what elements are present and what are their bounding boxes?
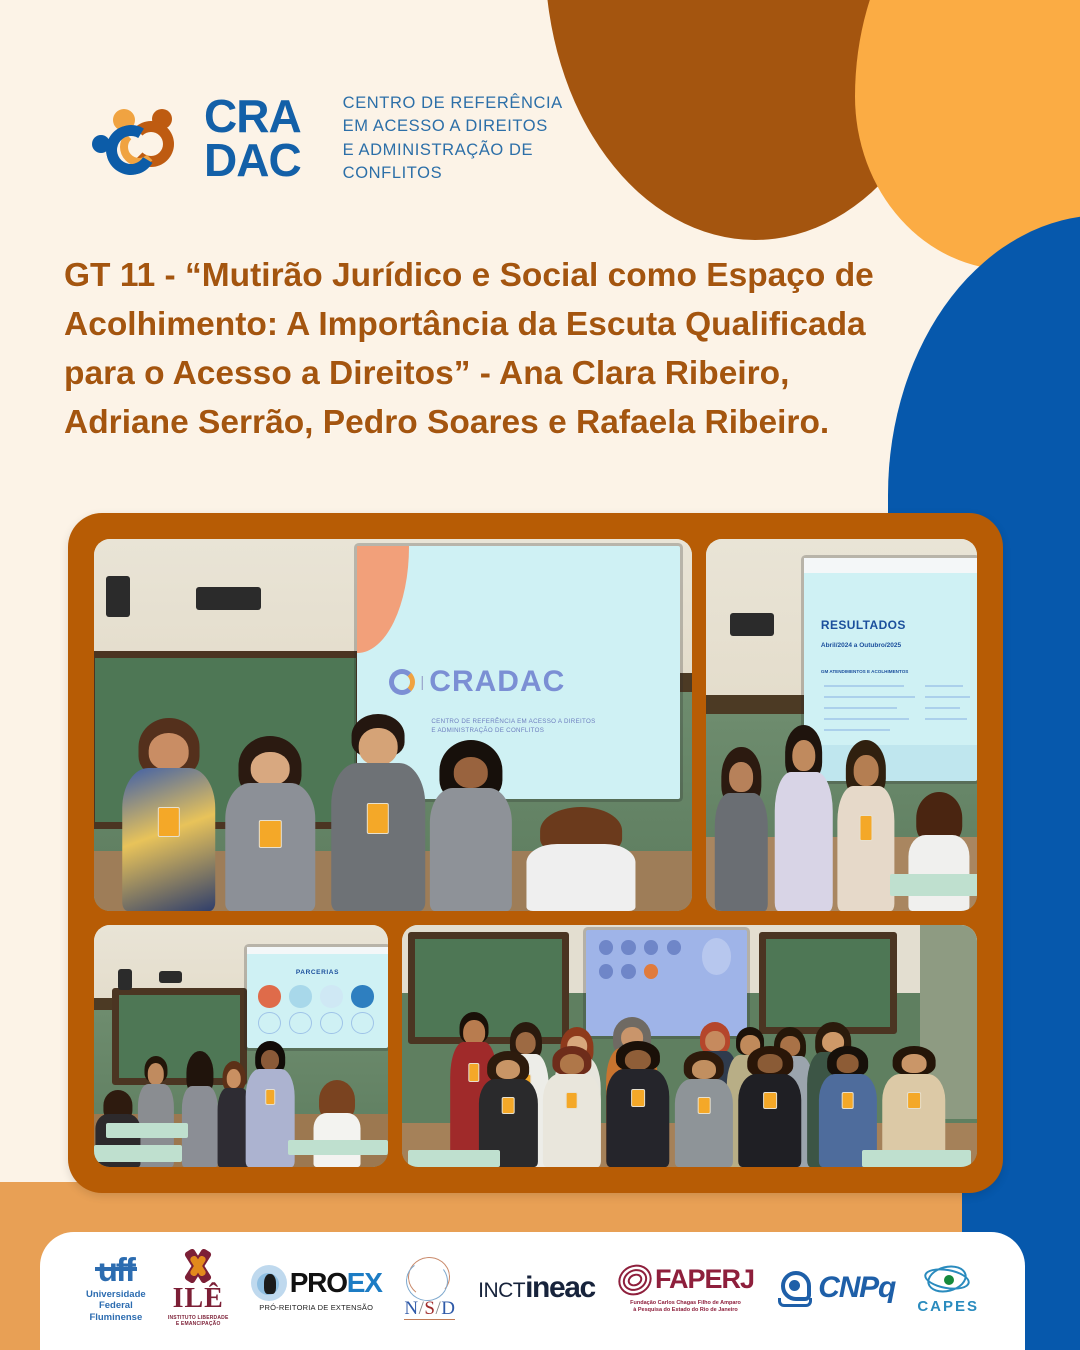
- page-title-line-1: GT 11 - “Mutirão Jurídico e Social como …: [64, 252, 904, 301]
- brand-tagline: CENTRO DE REFERÊNCIA EM ACESSO A DIREITO…: [343, 92, 563, 186]
- decor-brown-blob: [545, 0, 965, 240]
- page-title-line-4: Adriane Serrão, Pedro Soares e Rafaela R…: [64, 399, 904, 448]
- cnpq-logo: CNPq: [776, 1269, 895, 1307]
- proex-logo: PROEX PRÓ-REITORIA DE EXTENSÃO: [251, 1265, 382, 1312]
- capes-logo: CAPES: [917, 1262, 979, 1315]
- proex-wordmark-light: EX: [347, 1267, 382, 1298]
- nsd-letter-d: D: [441, 1298, 455, 1319]
- partner-logos-footer: uff Universidade Federal Fluminense ILÊ …: [40, 1232, 1025, 1350]
- faperj-label: Fundação Carlos Chagas Filho de Amparo à…: [630, 1300, 741, 1315]
- faperj-spiral-icon: [617, 1262, 653, 1298]
- cradac-logo-icon: [92, 101, 184, 177]
- page-title-line-2: Acolhimento: A Importância da Escuta Qua…: [64, 301, 904, 350]
- uff-label: Universidade Federal Fluminense: [86, 1289, 146, 1323]
- capes-wordmark: CAPES: [917, 1298, 979, 1315]
- ile-logo: ILÊ INSTITUTO LIBERDADE E EMANCIPAÇÃO: [168, 1249, 229, 1328]
- nsd-wordmark: N/S/D: [404, 1299, 455, 1320]
- cnpq-wordmark: CNPq: [818, 1273, 895, 1303]
- ile-wordmark: ILÊ: [173, 1285, 224, 1313]
- page-title: GT 11 - “Mutirão Jurídico e Social como …: [64, 252, 904, 448]
- capes-orbit-icon: [923, 1262, 973, 1296]
- photo-presenter-results: RESULTADOS Abril/2024 a Outubro/2025 GM …: [706, 539, 977, 911]
- cnpq-head-icon: [776, 1269, 816, 1307]
- proex-globe-icon: [251, 1265, 287, 1301]
- brand-header: CRA DAC CENTRO DE REFERÊNCIA EM ACESSO A…: [92, 92, 563, 186]
- nsd-letter-n: N: [404, 1298, 418, 1319]
- decor-orange-blob: [855, 0, 1080, 270]
- uff-logo: uff Universidade Federal Fluminense: [86, 1253, 146, 1323]
- ineac-suffix: ineac: [525, 1271, 595, 1304]
- ile-x-icon: [181, 1249, 215, 1283]
- photo-group-presentation-cradac: | CRADAC CENTRO DE REFERÊNCIA EM ACESSO …: [94, 539, 692, 911]
- faperj-wordmark: FAPERJ: [655, 1266, 754, 1293]
- brand-divider: [321, 92, 323, 186]
- nsd-curve-icon: [404, 1257, 456, 1299]
- photo-team-group: [402, 925, 977, 1167]
- photo-presenter-parcerias: PARCERIAS: [94, 925, 388, 1167]
- nsd-logo: N/S/D: [404, 1257, 456, 1320]
- poster-canvas: CRA DAC CENTRO DE REFERÊNCIA EM ACESSO A…: [0, 0, 1080, 1350]
- brand-wordmark-line1: CRA: [204, 95, 301, 139]
- uff-wordmark: uff: [98, 1253, 134, 1286]
- brand-wordmark: CRA DAC: [204, 95, 301, 182]
- inct-prefix: INCT: [478, 1279, 525, 1302]
- proex-wordmark-dark: PRO: [290, 1267, 347, 1298]
- photo-collage: | CRADAC CENTRO DE REFERÊNCIA EM ACESSO …: [68, 513, 1003, 1193]
- ile-label: INSTITUTO LIBERDADE E EMANCIPAÇÃO: [168, 1315, 229, 1328]
- proex-label: PRÓ-REITORIA DE EXTENSÃO: [259, 1303, 373, 1312]
- faperj-logo: FAPERJ Fundação Carlos Chagas Filho de A…: [617, 1262, 754, 1315]
- page-title-line-3: para o Acesso a Direitos” - Ana Clara Ri…: [64, 350, 904, 399]
- brand-wordmark-line2: DAC: [204, 139, 301, 183]
- inct-ineac-logo: INCTineac: [478, 1273, 595, 1303]
